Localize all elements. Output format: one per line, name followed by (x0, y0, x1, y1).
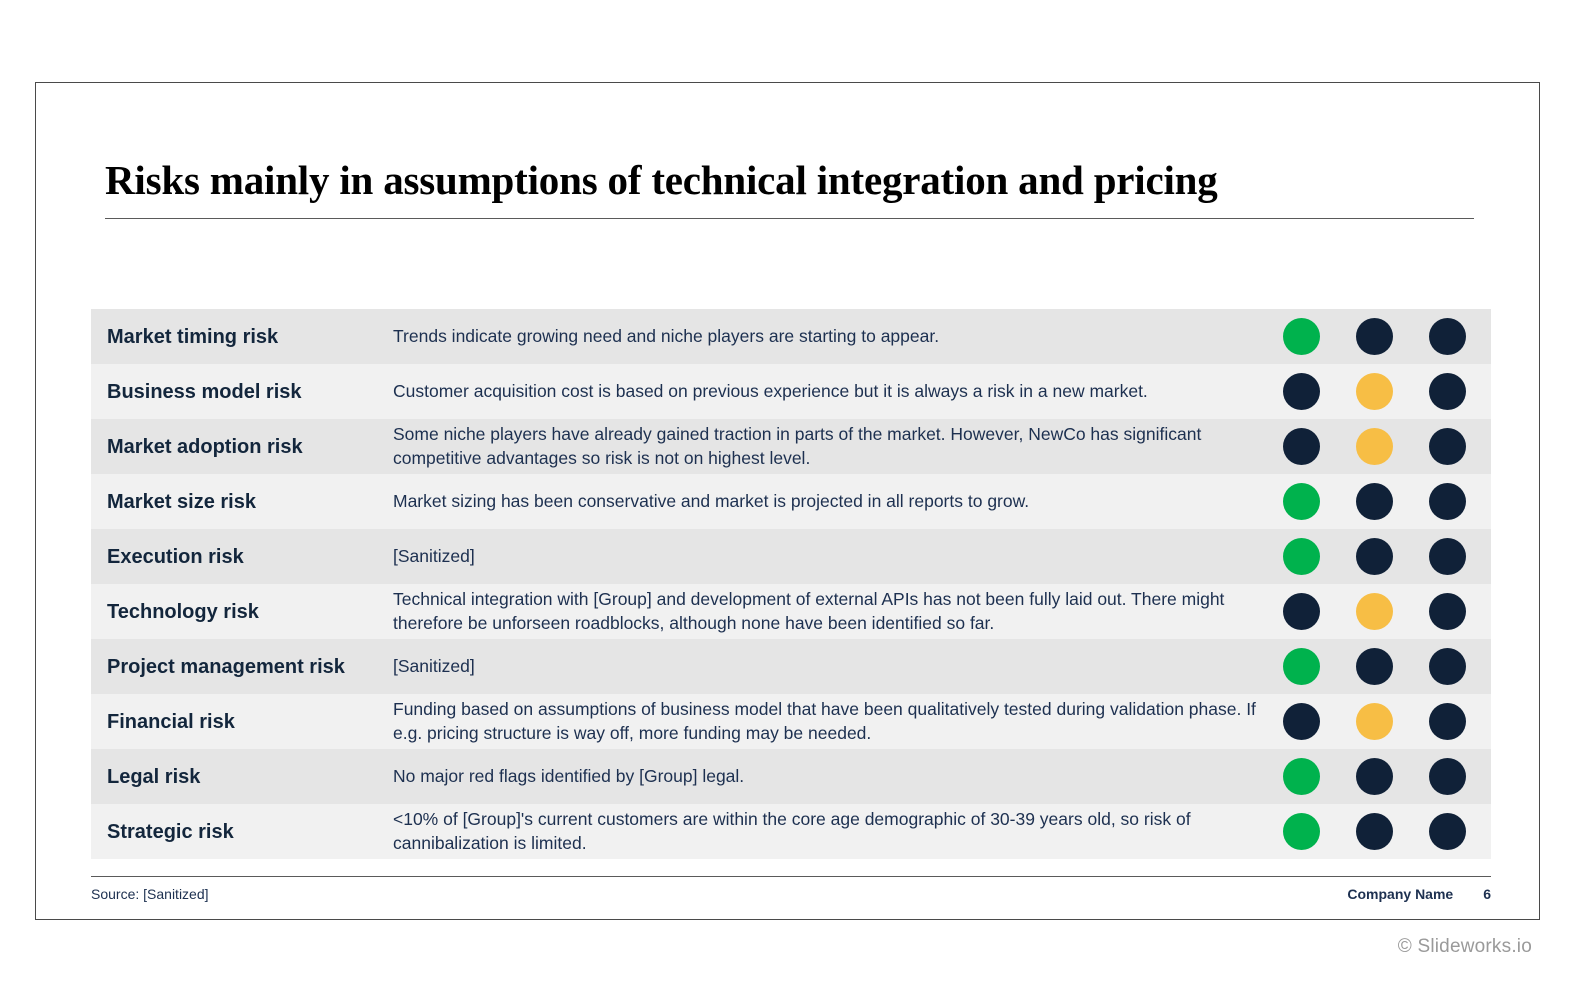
status-dot-navy[interactable] (1429, 538, 1466, 575)
status-dot-navy[interactable] (1283, 373, 1320, 410)
status-dot-navy[interactable] (1429, 648, 1466, 685)
risk-category-label: Legal risk (91, 765, 393, 789)
status-dot-amber[interactable] (1356, 703, 1393, 740)
risk-rating-dots (1281, 538, 1491, 575)
risk-category-label: Execution risk (91, 545, 393, 569)
risk-category-label: Market size risk (91, 490, 393, 514)
status-dot-amber[interactable] (1356, 428, 1393, 465)
risk-description: [Sanitized] (393, 655, 1281, 679)
table-row[interactable]: Legal riskNo major red flags identified … (91, 749, 1491, 804)
risk-rating-dots (1281, 813, 1491, 850)
risk-rating-dots (1281, 648, 1491, 685)
risk-category-label: Technology risk (91, 600, 393, 624)
status-dot-navy[interactable] (1283, 703, 1320, 740)
title-divider (105, 218, 1474, 219)
risk-rating-dots (1281, 318, 1491, 355)
risk-category-label: Financial risk (91, 710, 393, 734)
status-dot-navy[interactable] (1429, 703, 1466, 740)
footer-meta: Company Name 6 (1347, 886, 1491, 902)
table-row[interactable]: Execution risk[Sanitized] (91, 529, 1491, 584)
status-dot-navy[interactable] (1429, 318, 1466, 355)
page-number: 6 (1483, 886, 1491, 902)
status-dot-green[interactable] (1283, 758, 1320, 795)
risk-description: Trends indicate growing need and niche p… (393, 325, 1281, 349)
status-dot-green[interactable] (1283, 813, 1320, 850)
status-dot-navy[interactable] (1283, 428, 1320, 465)
status-dot-navy[interactable] (1429, 428, 1466, 465)
risk-description: Customer acquisition cost is based on pr… (393, 380, 1281, 404)
status-dot-navy[interactable] (1356, 813, 1393, 850)
risk-category-label: Business model risk (91, 380, 393, 404)
status-dot-navy[interactable] (1429, 758, 1466, 795)
status-dot-green[interactable] (1283, 648, 1320, 685)
risk-rating-dots (1281, 758, 1491, 795)
status-dot-green[interactable] (1283, 318, 1320, 355)
risk-category-label: Project management risk (91, 655, 393, 679)
status-dot-green[interactable] (1283, 483, 1320, 520)
title-block: Risks mainly in assumptions of technical… (105, 159, 1474, 219)
page-title: Risks mainly in assumptions of technical… (105, 159, 1474, 202)
status-dot-navy[interactable] (1429, 593, 1466, 630)
risk-description: <10% of [Group]'s current customers are … (393, 808, 1281, 855)
table-row[interactable]: Market timing riskTrends indicate growin… (91, 309, 1491, 364)
risk-category-label: Strategic risk (91, 820, 393, 844)
risk-rating-dots (1281, 428, 1491, 465)
risk-description: Technical integration with [Group] and d… (393, 588, 1281, 635)
status-dot-navy[interactable] (1356, 318, 1393, 355)
risk-rating-dots (1281, 593, 1491, 630)
slideworks-watermark: © Slideworks.io (1398, 936, 1532, 958)
status-dot-green[interactable] (1283, 538, 1320, 575)
status-dot-navy[interactable] (1356, 758, 1393, 795)
risk-description: [Sanitized] (393, 545, 1281, 569)
table-row[interactable]: Technology riskTechnical integration wit… (91, 584, 1491, 639)
slide-canvas: Risks mainly in assumptions of technical… (35, 82, 1540, 920)
status-dot-navy[interactable] (1429, 483, 1466, 520)
status-dot-navy[interactable] (1429, 813, 1466, 850)
table-row[interactable]: Business model riskCustomer acquisition … (91, 364, 1491, 419)
table-row[interactable]: Strategic risk<10% of [Group]'s current … (91, 804, 1491, 859)
table-row[interactable]: Financial riskFunding based on assumptio… (91, 694, 1491, 749)
risk-rating-dots (1281, 703, 1491, 740)
status-dot-navy[interactable] (1283, 593, 1320, 630)
risk-description: No major red flags identified by [Group]… (393, 765, 1281, 789)
slide-footer: Source: [Sanitized] Company Name 6 (91, 886, 1491, 902)
table-row[interactable]: Project management risk[Sanitized] (91, 639, 1491, 694)
risk-category-label: Market adoption risk (91, 435, 393, 459)
source-note: Source: [Sanitized] (91, 886, 209, 902)
risk-description: Some niche players have already gained t… (393, 423, 1281, 470)
table-row[interactable]: Market size riskMarket sizing has been c… (91, 474, 1491, 529)
risk-rating-dots (1281, 373, 1491, 410)
company-name: Company Name (1347, 886, 1453, 902)
table-row[interactable]: Market adoption riskSome niche players h… (91, 419, 1491, 474)
risk-category-label: Market timing risk (91, 325, 393, 349)
risk-description: Funding based on assumptions of business… (393, 698, 1281, 745)
footer-divider (91, 876, 1491, 877)
status-dot-navy[interactable] (1356, 483, 1393, 520)
status-dot-amber[interactable] (1356, 373, 1393, 410)
risk-description: Market sizing has been conservative and … (393, 490, 1281, 514)
risk-rating-dots (1281, 483, 1491, 520)
status-dot-navy[interactable] (1356, 648, 1393, 685)
risk-assessment-table: Market timing riskTrends indicate growin… (91, 309, 1491, 859)
status-dot-navy[interactable] (1356, 538, 1393, 575)
status-dot-amber[interactable] (1356, 593, 1393, 630)
status-dot-navy[interactable] (1429, 373, 1466, 410)
